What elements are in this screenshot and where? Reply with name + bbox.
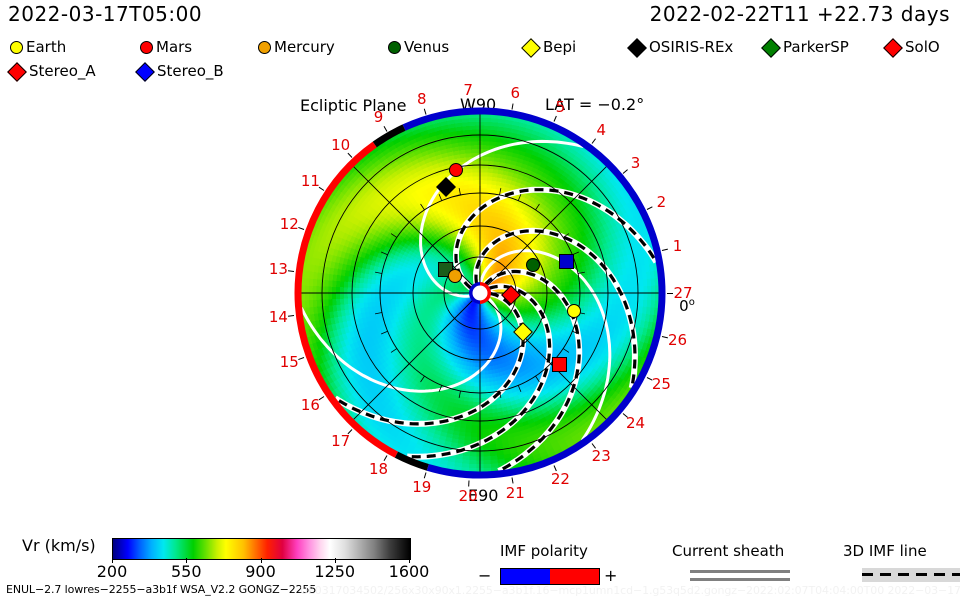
plot-marker-mars bbox=[449, 163, 463, 177]
carrington-tick-mark bbox=[667, 293, 673, 294]
legend-item-stereo-a: Stereo_A bbox=[10, 64, 96, 79]
imf-negative-half bbox=[501, 569, 550, 584]
velocity-colorbar bbox=[112, 538, 411, 560]
legend-label: Bepi bbox=[543, 40, 576, 55]
carrington-tick-19: 19 bbox=[412, 478, 431, 496]
plot-marker-stereo-b bbox=[559, 254, 574, 269]
body-legend: EarthMarsMercuryVenusBepiOSIRIS-RExParke… bbox=[0, 36, 960, 60]
imf-polarity-bar bbox=[500, 568, 600, 585]
legend-item-stereo-b: Stereo_B bbox=[138, 64, 224, 79]
watermark-text: UE0317034502/256x30x90x1.2255−a3b1f.16−m… bbox=[300, 584, 960, 597]
colorbar-tick-label: 550 bbox=[171, 562, 202, 581]
current-date-label: 2022-03-17T05:00 bbox=[8, 2, 202, 26]
plot-marker-mercury bbox=[448, 269, 462, 283]
carrington-tick-21: 21 bbox=[506, 484, 525, 502]
carrington-tick-14: 14 bbox=[269, 308, 288, 326]
bepi-marker-icon bbox=[521, 38, 541, 58]
epoch-label: 2022-02-22T11 +22.73 days bbox=[650, 2, 950, 26]
legend-item-venus: Venus bbox=[388, 40, 449, 55]
imf-minus-sign: − bbox=[478, 566, 491, 585]
legend-item-mercury: Mercury bbox=[258, 40, 335, 55]
imf-positive-half bbox=[550, 569, 599, 584]
carrington-tick-16: 16 bbox=[301, 396, 320, 414]
plot-area: Ecliptic Plane LAT = −0.2° W90 E90 12345… bbox=[0, 92, 960, 517]
solar-wind-disk bbox=[289, 102, 671, 484]
parkersp-marker-icon bbox=[761, 38, 781, 58]
carrington-tick-2: 2 bbox=[657, 193, 667, 211]
carrington-tick-7: 7 bbox=[463, 81, 473, 99]
carrington-tick-3: 3 bbox=[631, 154, 641, 172]
carrington-tick-17: 17 bbox=[331, 432, 350, 450]
solo-marker-icon bbox=[883, 38, 903, 58]
carrington-tick-11: 11 bbox=[301, 172, 320, 190]
legend-label: ParkerSP bbox=[783, 40, 849, 55]
plot-marker-parkersp bbox=[552, 357, 567, 372]
sun-center bbox=[473, 286, 488, 301]
carrington-tick-1: 1 bbox=[673, 237, 683, 255]
plot-marker-earth bbox=[567, 304, 581, 318]
carrington-tick-10: 10 bbox=[331, 136, 350, 154]
zero-degree-marker: 0o bbox=[679, 297, 695, 315]
legend-label: Mercury bbox=[274, 40, 335, 55]
imf-polarity-title: IMF polarity bbox=[500, 542, 588, 560]
zero-degree-label: 0 bbox=[679, 297, 689, 315]
colorbar-tick-label: 1600 bbox=[389, 562, 430, 581]
imf-3d-line-title: 3D IMF line bbox=[843, 542, 927, 560]
legend-label: Earth bbox=[26, 40, 66, 55]
legend-item-osiris-rex: OSIRIS-REx bbox=[630, 40, 733, 55]
legend-item-mars: Mars bbox=[140, 40, 192, 55]
imf-3d-line-sample bbox=[862, 568, 960, 582]
legend-label: SolO bbox=[905, 40, 940, 55]
colorbar-tick-label: 900 bbox=[245, 562, 276, 581]
carrington-tick-20: 20 bbox=[459, 487, 478, 505]
carrington-tick-26: 26 bbox=[668, 331, 687, 349]
colorbar-label: Vr (km/s) bbox=[22, 536, 96, 555]
current-sheath-sample bbox=[690, 569, 790, 582]
carrington-tick-25: 25 bbox=[652, 375, 671, 393]
carrington-tick-6: 6 bbox=[510, 84, 520, 102]
carrington-tick-12: 12 bbox=[280, 215, 299, 233]
current-sheath-title: Current sheath bbox=[672, 542, 784, 560]
carrington-tick-4: 4 bbox=[596, 121, 606, 139]
wsa-enlil-solar-wind-plot: 2022-03-17T05:00 2022-02-22T11 +22.73 da… bbox=[0, 0, 960, 600]
plot-marker-venus bbox=[526, 258, 540, 272]
carrington-tick-22: 22 bbox=[551, 470, 570, 488]
carrington-tick-15: 15 bbox=[280, 353, 299, 371]
carrington-tick-23: 23 bbox=[592, 447, 611, 465]
venus-marker-icon bbox=[388, 41, 401, 54]
earth-marker-icon bbox=[10, 41, 23, 54]
imf-plus-sign: + bbox=[604, 566, 617, 585]
carrington-tick-13: 13 bbox=[269, 260, 288, 278]
legend-item-parkersp: ParkerSP bbox=[764, 40, 849, 55]
legend-label: Mars bbox=[156, 40, 192, 55]
legend-label: Stereo_B bbox=[157, 64, 224, 79]
carrington-tick-18: 18 bbox=[369, 460, 388, 478]
legend-label: OSIRIS-REx bbox=[649, 40, 733, 55]
legend-item-solo: SolO bbox=[886, 40, 940, 55]
stereo-a-marker-icon bbox=[7, 62, 27, 82]
mercury-marker-icon bbox=[258, 41, 271, 54]
colorbar-tick-label: 200 bbox=[97, 562, 128, 581]
stereo-b-marker-icon bbox=[135, 62, 155, 82]
legend-label: Venus bbox=[404, 40, 449, 55]
legend-item-earth: Earth bbox=[10, 40, 66, 55]
credit-text: ENUL−2.7 lowres−2255−a3b1f WSA_V2.2 GONG… bbox=[6, 583, 316, 596]
mars-marker-icon bbox=[140, 41, 153, 54]
degree-symbol: o bbox=[689, 297, 695, 308]
carrington-tick-9: 9 bbox=[374, 108, 384, 126]
solar-wind-velocity-map bbox=[289, 102, 671, 484]
legend-label: Stereo_A bbox=[29, 64, 96, 79]
osiris-rex-marker-icon bbox=[627, 38, 647, 58]
carrington-tick-8: 8 bbox=[417, 90, 427, 108]
carrington-tick-5: 5 bbox=[556, 98, 566, 116]
legend-item-bepi: Bepi bbox=[524, 40, 576, 55]
carrington-tick-24: 24 bbox=[626, 414, 645, 432]
colorbar-tick-label: 1250 bbox=[314, 562, 355, 581]
